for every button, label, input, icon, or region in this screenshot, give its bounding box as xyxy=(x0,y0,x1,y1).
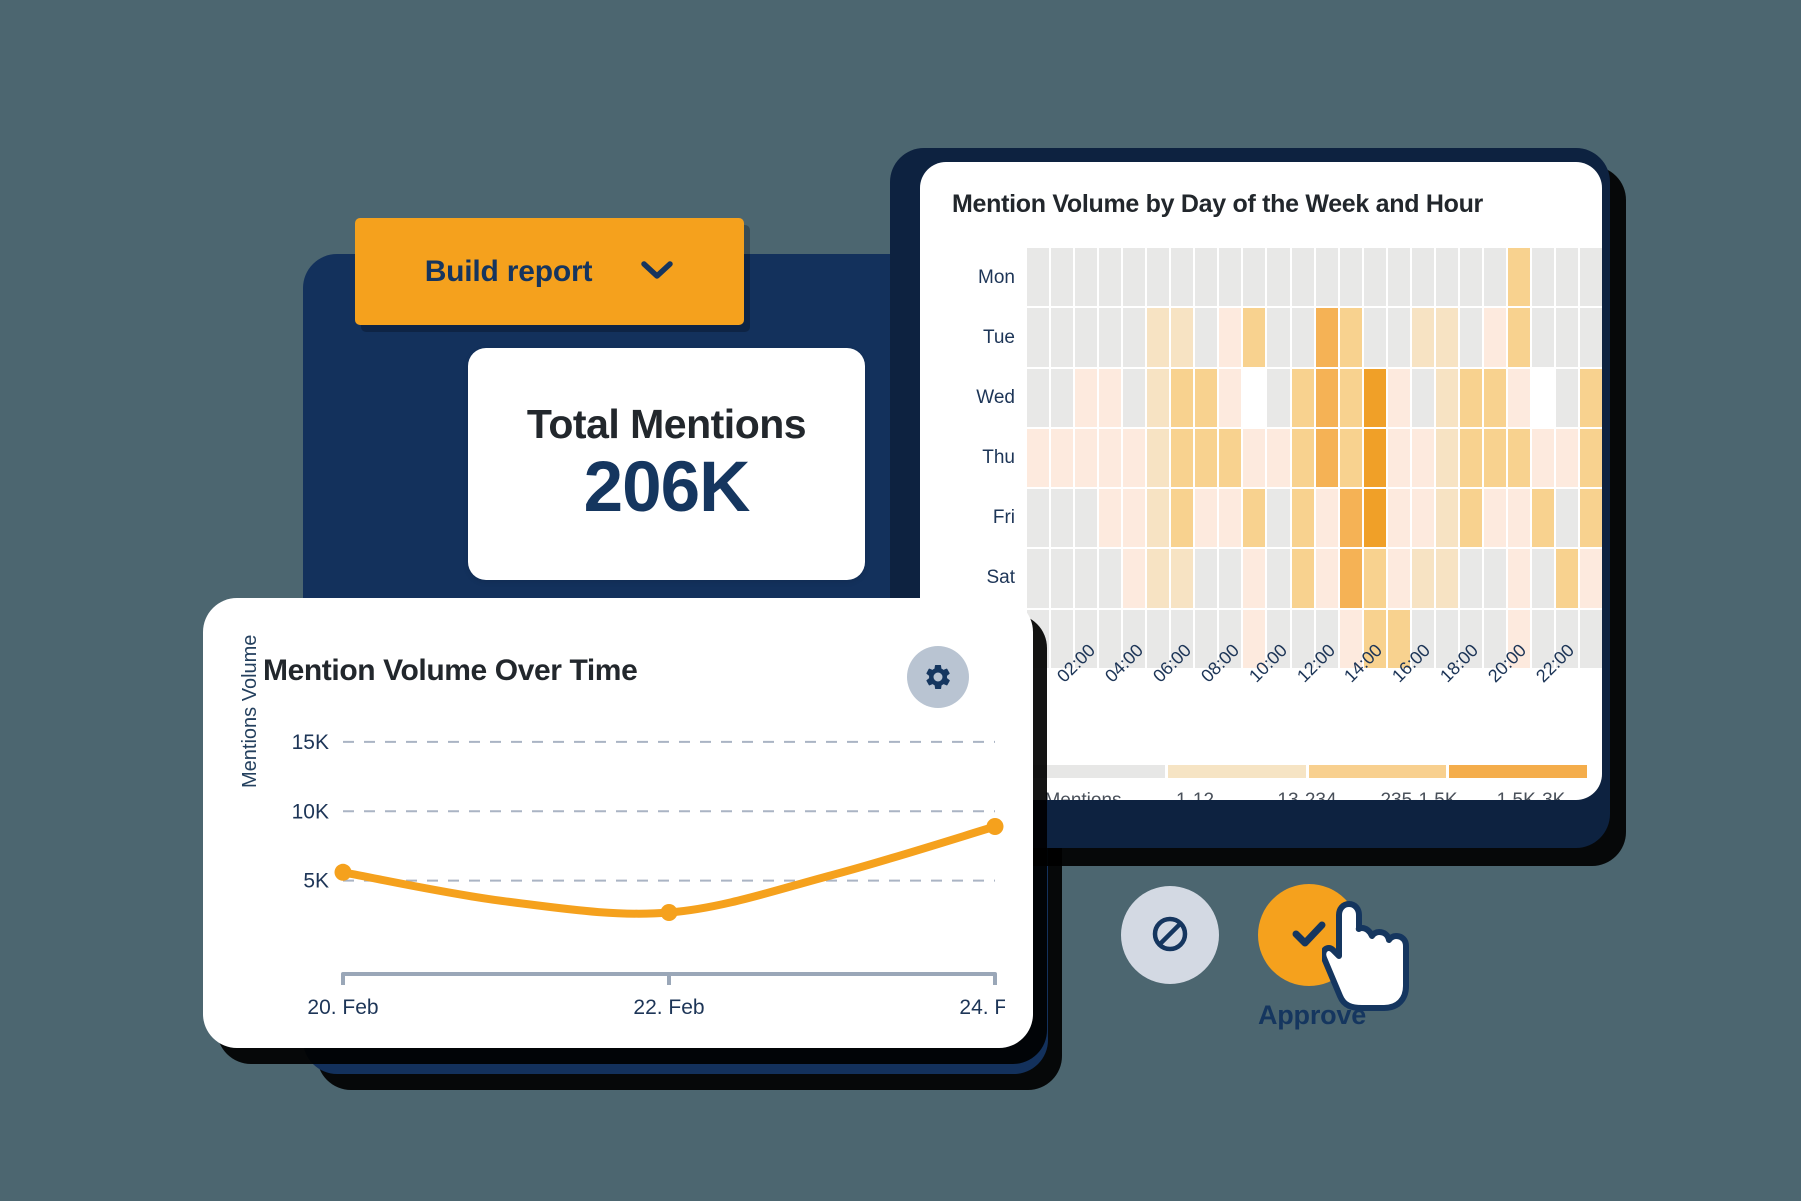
heatmap-cell[interactable] xyxy=(1171,369,1193,427)
mention-volume-over-time-card: Mention Volume Over Time Mentions Volume… xyxy=(203,598,1033,1048)
heatmap-cell[interactable] xyxy=(1340,248,1362,306)
line-chart-y-tick: 15K xyxy=(292,731,329,754)
heatmap-cell[interactable] xyxy=(1075,248,1097,306)
heatmap-cell[interactable] xyxy=(1075,549,1097,607)
heatmap-cell[interactable] xyxy=(1340,369,1362,427)
line-chart-x-tick-label: 24. Feb xyxy=(959,996,1005,1019)
heatmap-cell[interactable] xyxy=(1460,489,1482,547)
heatmap-cell[interactable] xyxy=(1243,308,1265,366)
total-mentions-value: 206K xyxy=(584,450,750,527)
heatmap-cell[interactable] xyxy=(1556,369,1578,427)
heatmap-legend-labels: Mentions1-1213-234235-1.5K1.5K-3K xyxy=(1027,790,1587,800)
heatmap-cell[interactable] xyxy=(1051,549,1073,607)
line-chart-data-point[interactable] xyxy=(661,904,678,921)
heatmap-cell[interactable] xyxy=(1099,248,1121,306)
heatmap-row xyxy=(1027,369,1602,427)
heatmap-cell[interactable] xyxy=(1388,308,1410,366)
heatmap-cell[interactable] xyxy=(1027,429,1049,487)
heatmap-cell[interactable] xyxy=(1219,248,1241,306)
heatmap-cell[interactable] xyxy=(1508,308,1530,366)
heatmap-cell[interactable] xyxy=(1580,369,1602,427)
line-chart-y-tick: 10K xyxy=(292,800,329,823)
heatmap-cell[interactable] xyxy=(1292,549,1314,607)
heatmap-cell[interactable] xyxy=(1364,369,1386,427)
line-chart-series xyxy=(343,827,995,914)
heatmap-cell[interactable] xyxy=(1075,369,1097,427)
heatmap-cell[interactable] xyxy=(1292,429,1314,487)
heatmap-cell[interactable] xyxy=(1460,549,1482,607)
heatmap-cell[interactable] xyxy=(1027,489,1049,547)
heatmap-cell[interactable] xyxy=(1436,549,1458,607)
heatmap-cell[interactable] xyxy=(1292,248,1314,306)
heatmap-cell[interactable] xyxy=(1556,308,1578,366)
heatmap-title: Mention Volume by Day of the Week and Ho… xyxy=(952,190,1483,219)
heatmap-cell[interactable] xyxy=(1532,489,1554,547)
heatmap-cell[interactable] xyxy=(1123,369,1145,427)
heatmap-cell[interactable] xyxy=(1316,369,1338,427)
heatmap-cell[interactable] xyxy=(1123,308,1145,366)
heatmap-cell[interactable] xyxy=(1556,549,1578,607)
heatmap-cell[interactable] xyxy=(1580,610,1602,668)
heatmap-row xyxy=(1027,549,1602,607)
heatmap-cell[interactable] xyxy=(1075,489,1097,547)
heatmap-cell[interactable] xyxy=(1267,369,1289,427)
heatmap-cell[interactable] xyxy=(1292,489,1314,547)
heatmap-cell[interactable] xyxy=(1460,369,1482,427)
heatmap-cell[interactable] xyxy=(1364,549,1386,607)
heatmap-day-label: Wed xyxy=(920,368,1027,428)
total-mentions-card: Total Mentions 206K xyxy=(468,348,865,580)
heatmap-cell[interactable] xyxy=(1147,429,1169,487)
heatmap-cell[interactable] xyxy=(1316,489,1338,547)
heatmap-row xyxy=(1027,308,1602,366)
heatmap-legend-bin: 1.5K-3K xyxy=(1475,790,1587,800)
heatmap-cell[interactable] xyxy=(1051,429,1073,487)
reject-button[interactable] xyxy=(1121,886,1219,984)
heatmap-cell[interactable] xyxy=(1243,248,1265,306)
heatmap-cell[interactable] xyxy=(1195,248,1217,306)
heatmap-cell[interactable] xyxy=(1171,489,1193,547)
total-mentions-title: Total Mentions xyxy=(527,401,806,448)
heatmap-cell[interactable] xyxy=(1532,429,1554,487)
heatmap-cell[interactable] xyxy=(1364,248,1386,306)
heatmap-cell[interactable] xyxy=(1316,248,1338,306)
heatmap-cell[interactable] xyxy=(1460,308,1482,366)
heatmap-cell[interactable] xyxy=(1436,248,1458,306)
heatmap-cell[interactable] xyxy=(1388,549,1410,607)
heatmap-cell[interactable] xyxy=(1484,549,1506,607)
heatmap-cell[interactable] xyxy=(1460,429,1482,487)
heatmap-cell[interactable] xyxy=(1195,369,1217,427)
heatmap-cell[interactable] xyxy=(1123,248,1145,306)
heatmap-cell[interactable] xyxy=(1267,489,1289,547)
heatmap-legend-swatch xyxy=(1027,765,1165,778)
screenshot-root: Build report Total Mentions 206K Mention… xyxy=(0,0,1801,1201)
heatmap-cell[interactable] xyxy=(1147,248,1169,306)
heatmap-cell[interactable] xyxy=(1580,489,1602,547)
heatmap-cell[interactable] xyxy=(1267,429,1289,487)
heatmap-legend-swatch xyxy=(1309,765,1447,778)
heatmap-cell[interactable] xyxy=(1099,429,1121,487)
line-chart-x-tick-label: 20. Feb xyxy=(307,996,378,1019)
heatmap-legend-swatch xyxy=(1168,765,1306,778)
heatmap-cell[interactable] xyxy=(1556,489,1578,547)
heatmap-cell[interactable] xyxy=(1364,308,1386,366)
heatmap-cell[interactable] xyxy=(1556,248,1578,306)
heatmap-cell[interactable] xyxy=(1484,248,1506,306)
heatmap-cell[interactable] xyxy=(1460,248,1482,306)
heatmap-cell[interactable] xyxy=(1171,429,1193,487)
heatmap-legend-bin: 235-1.5K xyxy=(1363,790,1475,800)
line-chart-data-point[interactable] xyxy=(987,818,1004,835)
heatmap-cell[interactable] xyxy=(1147,489,1169,547)
heatmap-cell[interactable] xyxy=(1532,369,1554,427)
block-icon xyxy=(1148,912,1192,959)
heatmap-cell[interactable] xyxy=(1532,308,1554,366)
gear-icon[interactable] xyxy=(907,646,969,708)
heatmap-cell[interactable] xyxy=(1219,369,1241,427)
heatmap-cell[interactable] xyxy=(1484,489,1506,547)
heatmap-cell[interactable] xyxy=(1484,429,1506,487)
heatmap-cell[interactable] xyxy=(1243,429,1265,487)
heatmap-cell[interactable] xyxy=(1027,248,1049,306)
heatmap-cell[interactable] xyxy=(1580,549,1602,607)
heatmap-legend-bin: 1-12 xyxy=(1139,790,1251,800)
pointer-hand-cursor xyxy=(1322,900,1414,1017)
heatmap-cell[interactable] xyxy=(1340,308,1362,366)
heatmap-cell[interactable] xyxy=(1412,489,1434,547)
heatmap-cell[interactable] xyxy=(1484,369,1506,427)
heatmap-cell[interactable] xyxy=(1388,248,1410,306)
line-chart-plot: 5K10K15K20. Feb22. Feb24. Feb xyxy=(265,718,1005,1028)
heatmap-cell[interactable] xyxy=(1027,369,1049,427)
heatmap-cell[interactable] xyxy=(1292,369,1314,427)
heatmap-cell[interactable] xyxy=(1364,489,1386,547)
heatmap-cell[interactable] xyxy=(1412,429,1434,487)
heatmap-grid[interactable] xyxy=(1027,248,1602,668)
heatmap-cell[interactable] xyxy=(1219,549,1241,607)
heatmap-cell[interactable] xyxy=(1099,308,1121,366)
heatmap-cell[interactable] xyxy=(1580,248,1602,306)
heatmap-legend-swatch xyxy=(1449,765,1587,778)
heatmap-cell[interactable] xyxy=(1075,308,1097,366)
heatmap-cell[interactable] xyxy=(1508,489,1530,547)
heatmap-cell[interactable] xyxy=(1123,549,1145,607)
heatmap-row xyxy=(1027,429,1602,487)
line-chart-x-tick-label: 22. Feb xyxy=(633,996,704,1019)
heatmap-cell[interactable] xyxy=(1027,308,1049,366)
heatmap-cell[interactable] xyxy=(1243,489,1265,547)
heatmap-cell[interactable] xyxy=(1123,429,1145,487)
heatmap-cell[interactable] xyxy=(1436,489,1458,547)
heatmap-cell[interactable] xyxy=(1267,248,1289,306)
build-report-label: Build report xyxy=(425,255,593,289)
heatmap-day-label: Thu xyxy=(920,428,1027,488)
heatmap-cell[interactable] xyxy=(1388,429,1410,487)
heatmap-cell[interactable] xyxy=(1412,369,1434,427)
heatmap-cell[interactable] xyxy=(1075,429,1097,487)
heatmap-cell[interactable] xyxy=(1580,308,1602,366)
heatmap-cell[interactable] xyxy=(1388,489,1410,547)
line-chart-y-axis-label: Mentions Volume xyxy=(239,635,262,788)
heatmap-cell[interactable] xyxy=(1051,489,1073,547)
heatmap-cell[interactable] xyxy=(1147,369,1169,427)
heatmap-cell[interactable] xyxy=(1532,549,1554,607)
heatmap-cell[interactable] xyxy=(1099,549,1121,607)
heatmap-cell[interactable] xyxy=(1195,308,1217,366)
heatmap-cell[interactable] xyxy=(1051,369,1073,427)
heatmap-cell[interactable] xyxy=(1219,489,1241,547)
heatmap-cell[interactable] xyxy=(1147,308,1169,366)
heatmap-cell[interactable] xyxy=(1532,248,1554,306)
heatmap-row xyxy=(1027,248,1602,306)
heatmap-cell[interactable] xyxy=(1195,429,1217,487)
heatmap-legend-swatches xyxy=(1027,765,1587,778)
heatmap-cell[interactable] xyxy=(1364,429,1386,487)
heatmap-cell[interactable] xyxy=(1171,248,1193,306)
heatmap-legend-title: Mentions xyxy=(1027,790,1139,800)
heatmap-cell[interactable] xyxy=(1412,248,1434,306)
line-chart-title: Mention Volume Over Time xyxy=(263,654,637,688)
heatmap-plot: MonTueWedThuFriSatSun xyxy=(920,248,1602,668)
heatmap-cell[interactable] xyxy=(1219,429,1241,487)
heatmap-cell[interactable] xyxy=(1508,248,1530,306)
build-report-button[interactable]: Build report xyxy=(355,218,744,325)
heatmap-legend-bin: 13-234 xyxy=(1251,790,1363,800)
heatmap-cell[interactable] xyxy=(1508,549,1530,607)
heatmap-cell[interactable] xyxy=(1051,248,1073,306)
heatmap-cell[interactable] xyxy=(1340,489,1362,547)
heatmap-cell[interactable] xyxy=(1580,429,1602,487)
heatmap-cell[interactable] xyxy=(1243,549,1265,607)
heatmap-cell[interactable] xyxy=(1388,369,1410,427)
heatmap-cell[interactable] xyxy=(1195,549,1217,607)
heatmap-day-label: Tue xyxy=(920,308,1027,368)
line-chart-y-tick: 5K xyxy=(303,870,329,893)
chevron-down-icon xyxy=(640,259,674,284)
heatmap-cell[interactable] xyxy=(1051,308,1073,366)
heatmap-cell[interactable] xyxy=(1508,369,1530,427)
heatmap-day-label: Fri xyxy=(920,488,1027,548)
heatmap-cell[interactable] xyxy=(1171,549,1193,607)
heatmap-cell[interactable] xyxy=(1316,549,1338,607)
heatmap-cell[interactable] xyxy=(1436,369,1458,427)
heatmap-day-label: Mon xyxy=(920,248,1027,308)
heatmap-cell[interactable] xyxy=(1123,489,1145,547)
heatmap-hour-axis: 02:0004:0006:0008:0010:0012:0014:0016:00… xyxy=(1027,672,1602,762)
heatmap-cell[interactable] xyxy=(1412,308,1434,366)
heatmap-cell[interactable] xyxy=(1340,549,1362,607)
line-chart-data-point[interactable] xyxy=(335,864,352,881)
heatmap-cell[interactable] xyxy=(1267,549,1289,607)
heatmap-cell[interactable] xyxy=(1412,549,1434,607)
heatmap-cell[interactable] xyxy=(1484,308,1506,366)
heatmap-cell[interactable] xyxy=(1316,429,1338,487)
heatmap-cell[interactable] xyxy=(1508,429,1530,487)
heatmap-cell[interactable] xyxy=(1027,549,1049,607)
heatmap-cell[interactable] xyxy=(1340,429,1362,487)
heatmap-cell[interactable] xyxy=(1147,549,1169,607)
heatmap-cell[interactable] xyxy=(1556,429,1578,487)
heatmap-row xyxy=(1027,489,1602,547)
heatmap-cell[interactable] xyxy=(1436,308,1458,366)
heatmap-cell[interactable] xyxy=(1099,489,1121,547)
heatmap-cell[interactable] xyxy=(1171,308,1193,366)
heatmap-cell[interactable] xyxy=(1243,369,1265,427)
heatmap-cell[interactable] xyxy=(1316,308,1338,366)
heatmap-cell[interactable] xyxy=(1292,308,1314,366)
heatmap-cell[interactable] xyxy=(1436,429,1458,487)
heatmap-legend: Mentions1-1213-234235-1.5K1.5K-3K xyxy=(1027,765,1587,800)
heatmap-cell[interactable] xyxy=(1219,308,1241,366)
heatmap-cell[interactable] xyxy=(1099,369,1121,427)
heatmap-cell[interactable] xyxy=(1195,489,1217,547)
heatmap-cell[interactable] xyxy=(1267,308,1289,366)
